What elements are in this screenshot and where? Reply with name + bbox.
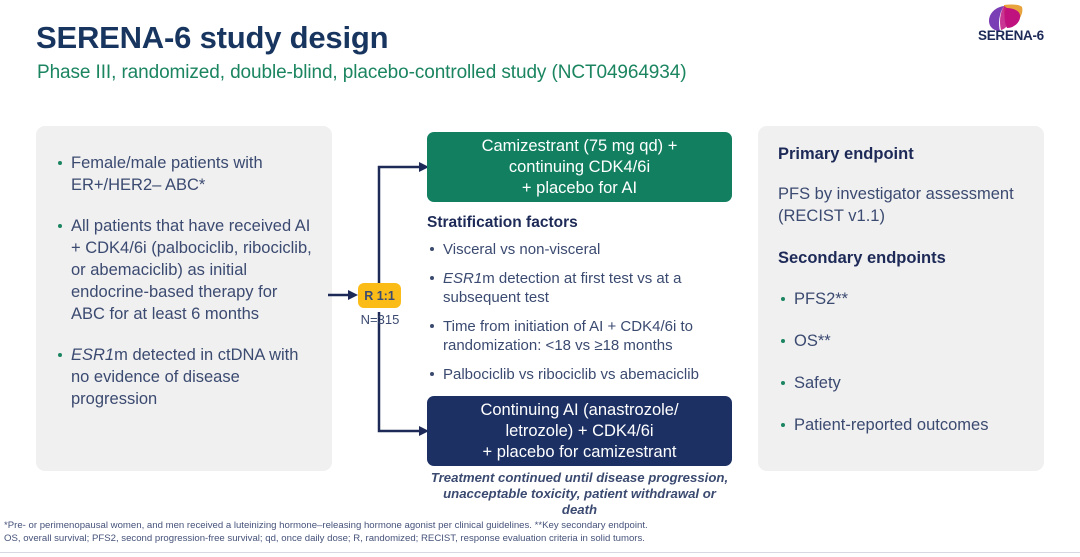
strat-text-1: Visceral vs non-visceral [443, 241, 600, 258]
list-item: Female/male patients with ER+/HER2– ABC* [55, 152, 313, 196]
secondary-endpoint-2: OS** [794, 332, 831, 350]
stratification-heading: Stratification factors [427, 214, 578, 232]
treatment-duration-note: Treatment continued until disease progre… [427, 470, 732, 518]
serena-6-logo: SERENA-6 [970, 2, 1074, 46]
list-item: Palbociclib vs ribociclib vs abemaciclib [427, 365, 739, 384]
stratification-list: Visceral vs non-visceral ESR1m detection… [427, 240, 739, 394]
eligibility-list: Female/male patients with ER+/HER2– ABC*… [55, 152, 313, 429]
list-item: ESR1m detection at first test vs at a su… [427, 269, 739, 307]
arm-b-line-3: + placebo for camizestrant [483, 443, 677, 461]
eligibility-text-1: Female/male patients with ER+/HER2– ABC* [71, 154, 263, 194]
arm-a-line-3: + placebo for AI [522, 179, 637, 197]
secondary-endpoint-4: Patient-reported outcomes [794, 416, 988, 434]
footer-divider [0, 552, 1080, 553]
arm-a-line-2: continuing CDK4/6i [509, 158, 650, 176]
primary-endpoint-text: PFS by investigator assessment (RECIST v… [778, 183, 1028, 227]
treatment-note-line-2: unacceptable toxicity, patient withdrawa… [443, 486, 716, 517]
treatment-note-line-1: Treatment continued until disease progre… [431, 470, 728, 485]
page-title: SERENA-6 study design [36, 20, 388, 56]
list-item: All patients that have received AI + CDK… [55, 215, 313, 325]
list-item: OS** [778, 330, 1026, 352]
sample-size-label: N=315 [352, 312, 408, 327]
arm-b-line-2: letrozole) + CDK4/6i [505, 422, 653, 440]
secondary-endpoints-heading: Secondary endpoints [778, 249, 946, 268]
footnote-line-1: *Pre- or perimenopausal women, and men r… [4, 519, 1064, 532]
list-item: ESR1m detected in ctDNA with no evidence… [55, 344, 313, 410]
randomization-ratio-badge: R 1:1 [358, 283, 401, 308]
secondary-endpoint-1: PFS2** [794, 290, 848, 308]
list-item: Safety [778, 372, 1026, 394]
arm-a-text: Camizestrant (75 mg qd) + continuing CDK… [482, 136, 678, 199]
secondary-endpoints-list: PFS2** OS** Safety Patient-reported outc… [778, 288, 1026, 456]
footnote-line-2: OS, overall survival; PFS2, second progr… [4, 532, 1064, 545]
primary-endpoint-heading: Primary endpoint [778, 145, 914, 164]
footnotes: *Pre- or perimenopausal women, and men r… [4, 519, 1064, 545]
list-item: Time from initiation of AI + CDK4/6i to … [427, 317, 739, 355]
strat-text-3: Time from initiation of AI + CDK4/6i to … [443, 318, 693, 354]
arm-b-line-1: Continuing AI (anastrozole/ [480, 401, 678, 419]
page-subtitle: Phase III, randomized, double-blind, pla… [37, 62, 686, 84]
eligibility-text-2: All patients that have received AI + CDK… [71, 217, 312, 323]
slide-canvas: SERENA-6 study design Phase III, randomi… [0, 0, 1080, 557]
treatment-arm-a-box: Camizestrant (75 mg qd) + continuing CDK… [427, 132, 732, 202]
arm-b-text: Continuing AI (anastrozole/ letrozole) +… [480, 400, 678, 463]
esr1-gene-label: ESR1 [71, 346, 114, 364]
list-item: Patient-reported outcomes [778, 414, 1026, 436]
list-item: Visceral vs non-visceral [427, 240, 739, 259]
secondary-endpoint-3: Safety [794, 374, 841, 392]
logo-wordmark: SERENA-6 [978, 28, 1044, 43]
arm-a-line-1: Camizestrant (75 mg qd) + [482, 137, 678, 155]
esr1-gene-label: ESR1 [443, 270, 482, 287]
strat-text-4: Palbociclib vs ribociclib vs abemaciclib [443, 366, 699, 383]
treatment-arm-b-box: Continuing AI (anastrozole/ letrozole) +… [427, 396, 732, 466]
list-item: PFS2** [778, 288, 1026, 310]
